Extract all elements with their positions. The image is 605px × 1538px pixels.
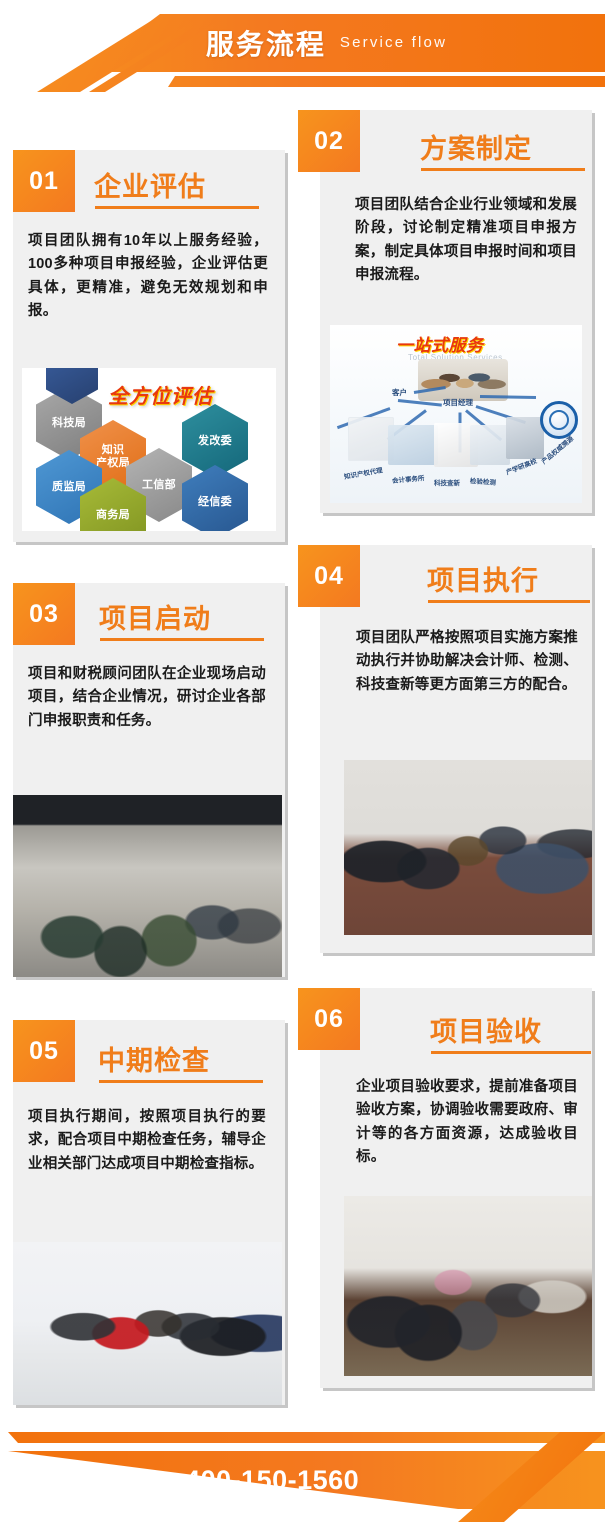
card-03[interactable]: 03 项目启动 项目和财税顾问团队在企业现场启动项目，结合企业情况，研讨企业各部… <box>13 583 285 977</box>
card-04-number: 04 <box>314 562 344 591</box>
hexagon-diagram-title: 全方位评估 <box>108 380 213 409</box>
card-01[interactable]: 科技局 知识 产权局 发改委 质监局 工信部 商务局 经信委 全方位评估 01 … <box>13 150 285 542</box>
one-stop-label-ip: 知识产权代理 <box>343 464 383 481</box>
card-06-number-badge: 06 <box>298 988 360 1050</box>
card-02-title: 方案制定 <box>420 127 532 166</box>
one-stop-service-diagram: 一站式服务 Total Solution Services 客户 项目经理 知识… <box>330 325 582 503</box>
footer-banner: 全国统一热线： 400-150-1560 <box>0 1432 605 1532</box>
header-banner: 服务流程 Service flow <box>0 14 605 92</box>
card-06-body: 企业项目验收要求，提前准备项目验收方案，协调验收需要政府、审计等的各方面资源，达… <box>356 1076 578 1170</box>
card-03-number-badge: 03 <box>13 583 75 645</box>
one-stop-thumb-accounting <box>388 425 438 465</box>
card-03-photo <box>13 795 282 977</box>
card-04-body: 项目团队严格按照项目实施方案推动执行并协助解决会计师、检测、科技查新等更方面第三… <box>356 627 578 697</box>
card-01-number: 01 <box>29 167 59 196</box>
card-06-title: 项目验收 <box>430 1010 542 1049</box>
card-04-title-rule <box>428 600 590 603</box>
one-stop-thumb-university <box>506 417 544 459</box>
one-stop-seal-icon <box>540 401 578 439</box>
card-05-number: 05 <box>29 1037 59 1066</box>
card-05-number-badge: 05 <box>13 1020 75 1082</box>
card-05[interactable]: 05 中期检查 项目执行期间，按照项目执行的要求，配合项目中期检查任务，辅导企业… <box>13 1020 285 1405</box>
card-02-number: 02 <box>314 127 344 156</box>
card-02-number-badge: 02 <box>298 110 360 172</box>
one-stop-node-client: 客户 <box>392 387 407 398</box>
card-04-number-badge: 04 <box>298 545 360 607</box>
service-flow-poster: 服务流程 Service flow 科技局 知识 产权局 发改委 质监局 工信部… <box>0 0 605 1538</box>
card-02-title-rule <box>421 168 585 171</box>
card-04-photo <box>344 760 592 935</box>
card-06[interactable]: 06 项目验收 企业项目验收要求，提前准备项目验收方案，协调验收需要政府、审计等… <box>320 988 592 1388</box>
card-03-body: 项目和财税顾问团队在企业现场启动项目，结合企业情况，研讨企业各部门申报职责和任务… <box>28 663 266 733</box>
card-03-title: 项目启动 <box>99 597 211 636</box>
card-06-number: 06 <box>314 1005 344 1034</box>
card-06-title-rule <box>431 1051 591 1054</box>
card-05-body: 项目执行期间，按照项目执行的要求，配合项目中期检查任务，辅导企业相关部门达成项目… <box>28 1106 266 1176</box>
one-stop-node-manager: 项目经理 <box>443 397 473 408</box>
one-stop-label-accounting: 会计事务所 <box>392 472 425 485</box>
card-05-title-rule <box>99 1080 263 1083</box>
footer-hotline-number[interactable]: 400-150-1560 <box>185 1465 359 1496</box>
footer-hotline-label: 全国统一热线： <box>60 1468 179 1492</box>
card-02[interactable]: 一站式服务 Total Solution Services 客户 项目经理 知识… <box>320 110 592 513</box>
card-02-body: 项目团队结合企业行业领域和发展阶段，讨论制定精准项目申报方案，制定具体项目申报时… <box>355 194 577 288</box>
page-subtitle: Service flow <box>340 34 447 53</box>
one-stop-label-search: 科技查新 <box>434 477 460 487</box>
card-01-title-rule <box>95 206 259 209</box>
card-03-number: 03 <box>29 600 59 629</box>
header-title-group: 服务流程 Service flow <box>0 14 605 72</box>
card-01-body: 项目团队拥有10年以上服务经验，100多种项目申报经验，企业评估更具体，更精准，… <box>28 230 268 324</box>
card-01-title: 企业评估 <box>94 165 206 204</box>
card-01-number-badge: 01 <box>13 150 75 212</box>
card-03-title-rule <box>100 638 264 641</box>
card-04-title: 项目执行 <box>427 559 539 598</box>
footer-stripe <box>8 1432 605 1443</box>
card-04[interactable]: 04 项目执行 项目团队严格按照项目实施方案推动执行并协助解决会计师、检测、科技… <box>320 545 592 953</box>
card-06-photo <box>344 1196 592 1376</box>
card-05-photo <box>13 1242 282 1405</box>
one-stop-thumb-testing <box>470 425 510 465</box>
card-05-title: 中期检查 <box>98 1039 210 1078</box>
page-title: 服务流程 <box>206 23 326 63</box>
hexagon-assessment-diagram: 科技局 知识 产权局 发改委 质监局 工信部 商务局 经信委 全方位评估 <box>22 368 276 531</box>
one-stop-label-testing: 检验检测 <box>470 475 497 487</box>
footer-hotline-group: 全国统一热线： 400-150-1560 <box>8 1451 448 1509</box>
